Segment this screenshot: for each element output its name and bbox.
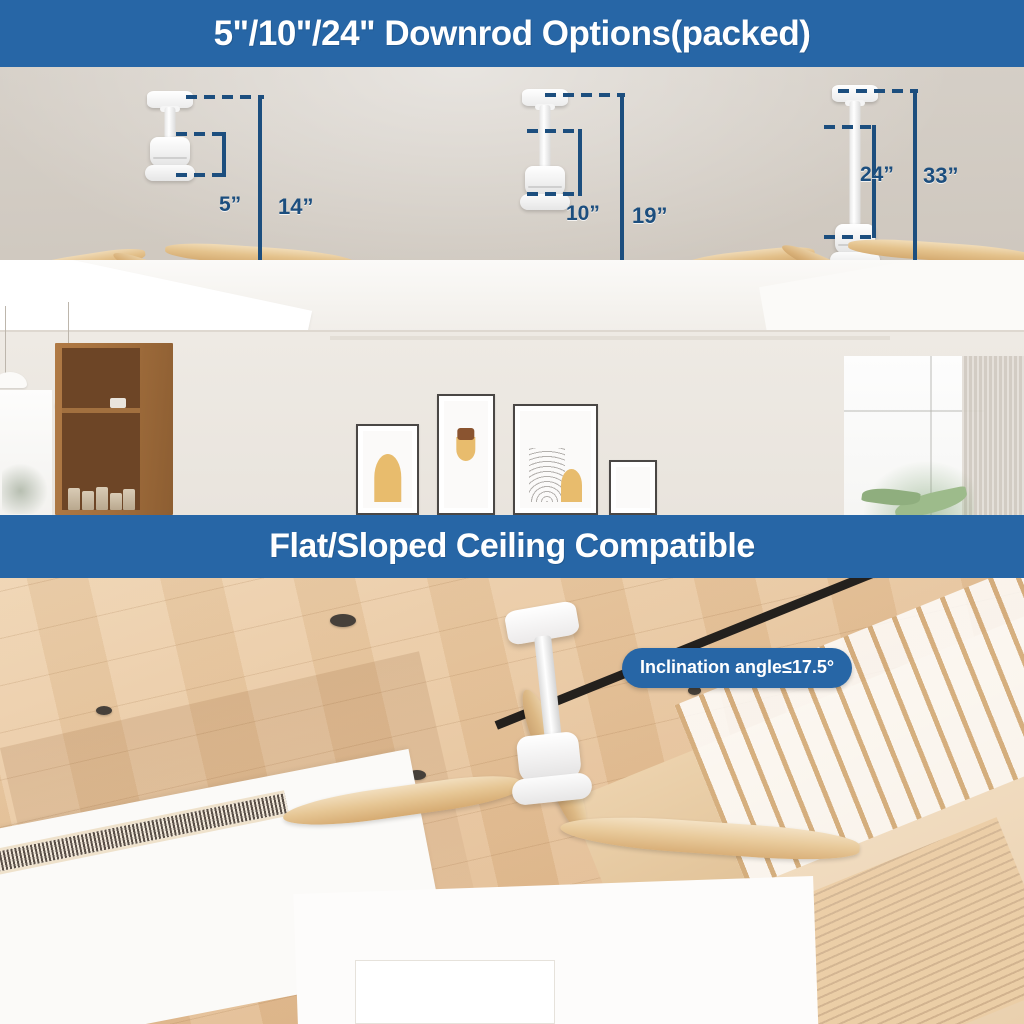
- wall-art-frame: [609, 460, 657, 515]
- downrod: [850, 101, 861, 226]
- infographic-page: 5"/10"/24" Downrod Options(packed) 5” 14…: [0, 0, 1024, 1024]
- pendant-cord: [5, 306, 6, 374]
- frame-mat: [444, 401, 488, 508]
- dim-top-guide-10: [545, 93, 625, 97]
- dim-total-line-33: [913, 89, 917, 269]
- dim-rod-bottom-24: [824, 235, 876, 239]
- dim-rod-top-5: [176, 132, 226, 136]
- dim-label-rod-24: 24”: [860, 163, 894, 187]
- cabinet-items: [66, 486, 136, 510]
- frame-mat: [363, 431, 412, 508]
- dim-label-rod-10: 10”: [566, 202, 600, 226]
- artwork-sun: [561, 469, 582, 502]
- wall-art-frame: [513, 404, 598, 515]
- dim-rod-bottom-5: [176, 173, 226, 177]
- top-banner-title: 5"/10"/24" Downrod Options(packed): [214, 14, 811, 54]
- frame-mat: [520, 411, 591, 508]
- downrod: [165, 107, 176, 139]
- downrod: [540, 105, 551, 168]
- storage-jar: [110, 493, 122, 510]
- dim-rod-top-10: [527, 129, 582, 133]
- cabinet-items: [66, 386, 136, 408]
- door-panel: [355, 960, 555, 1024]
- downrod: [534, 635, 562, 744]
- dim-top-guide-5: [186, 95, 264, 99]
- window-foliage: [2, 456, 48, 514]
- cabinet-bowl: [110, 398, 126, 408]
- storage-jar: [96, 487, 108, 510]
- storage-jar: [82, 491, 94, 510]
- artwork-arch: [374, 454, 401, 502]
- recessed-light: [96, 706, 112, 715]
- downrod-comparison-scene: 5” 14” 10” 19”: [0, 67, 1024, 515]
- recessed-light: [330, 614, 356, 627]
- wall-art-frame: [356, 424, 419, 515]
- inclination-angle-label: Inclination angle≤17.5°: [640, 657, 834, 677]
- dim-rod-line-10: [578, 129, 582, 196]
- room-interior: [0, 260, 1024, 515]
- storage-jar: [123, 489, 135, 510]
- dim-rod-bottom-10: [527, 192, 582, 196]
- cabinet-shelf: [62, 408, 140, 413]
- dim-total-line-14: [258, 95, 262, 274]
- dim-label-total-14: 14”: [278, 194, 313, 220]
- fan-canopy: [832, 85, 878, 102]
- dim-top-guide-24: [838, 89, 918, 93]
- dim-label-total-19: 19”: [632, 203, 667, 229]
- fan-canopy: [522, 89, 568, 106]
- top-banner: 5"/10"/24" Downrod Options(packed): [0, 0, 1024, 67]
- artwork-bowl: [456, 437, 475, 461]
- storage-jar: [68, 488, 80, 510]
- wall-art-frame: [437, 394, 495, 515]
- middle-banner-title: Flat/Sloped Ceiling Compatible: [269, 527, 755, 566]
- middle-banner: Flat/Sloped Ceiling Compatible: [0, 515, 1024, 578]
- inclination-angle-badge: Inclination angle≤17.5°: [622, 648, 852, 688]
- fan-canopy: [147, 91, 193, 108]
- frame-mat: [616, 467, 650, 508]
- fan-motor-housing: [150, 137, 190, 167]
- fan-option-5: [110, 91, 230, 221]
- dim-label-total-33: 33”: [923, 163, 958, 189]
- sloped-ceiling-scene: [0, 578, 1024, 1024]
- artwork-line-pattern: [529, 448, 566, 502]
- dim-rod-line-5: [222, 132, 226, 177]
- ceiling-fan-sloped: [470, 606, 670, 856]
- dim-label-rod-5: 5”: [219, 193, 241, 217]
- dim-rod-top-24: [824, 125, 876, 129]
- wall-trim-line: [330, 336, 890, 340]
- fan-blade-hub: [520, 194, 570, 210]
